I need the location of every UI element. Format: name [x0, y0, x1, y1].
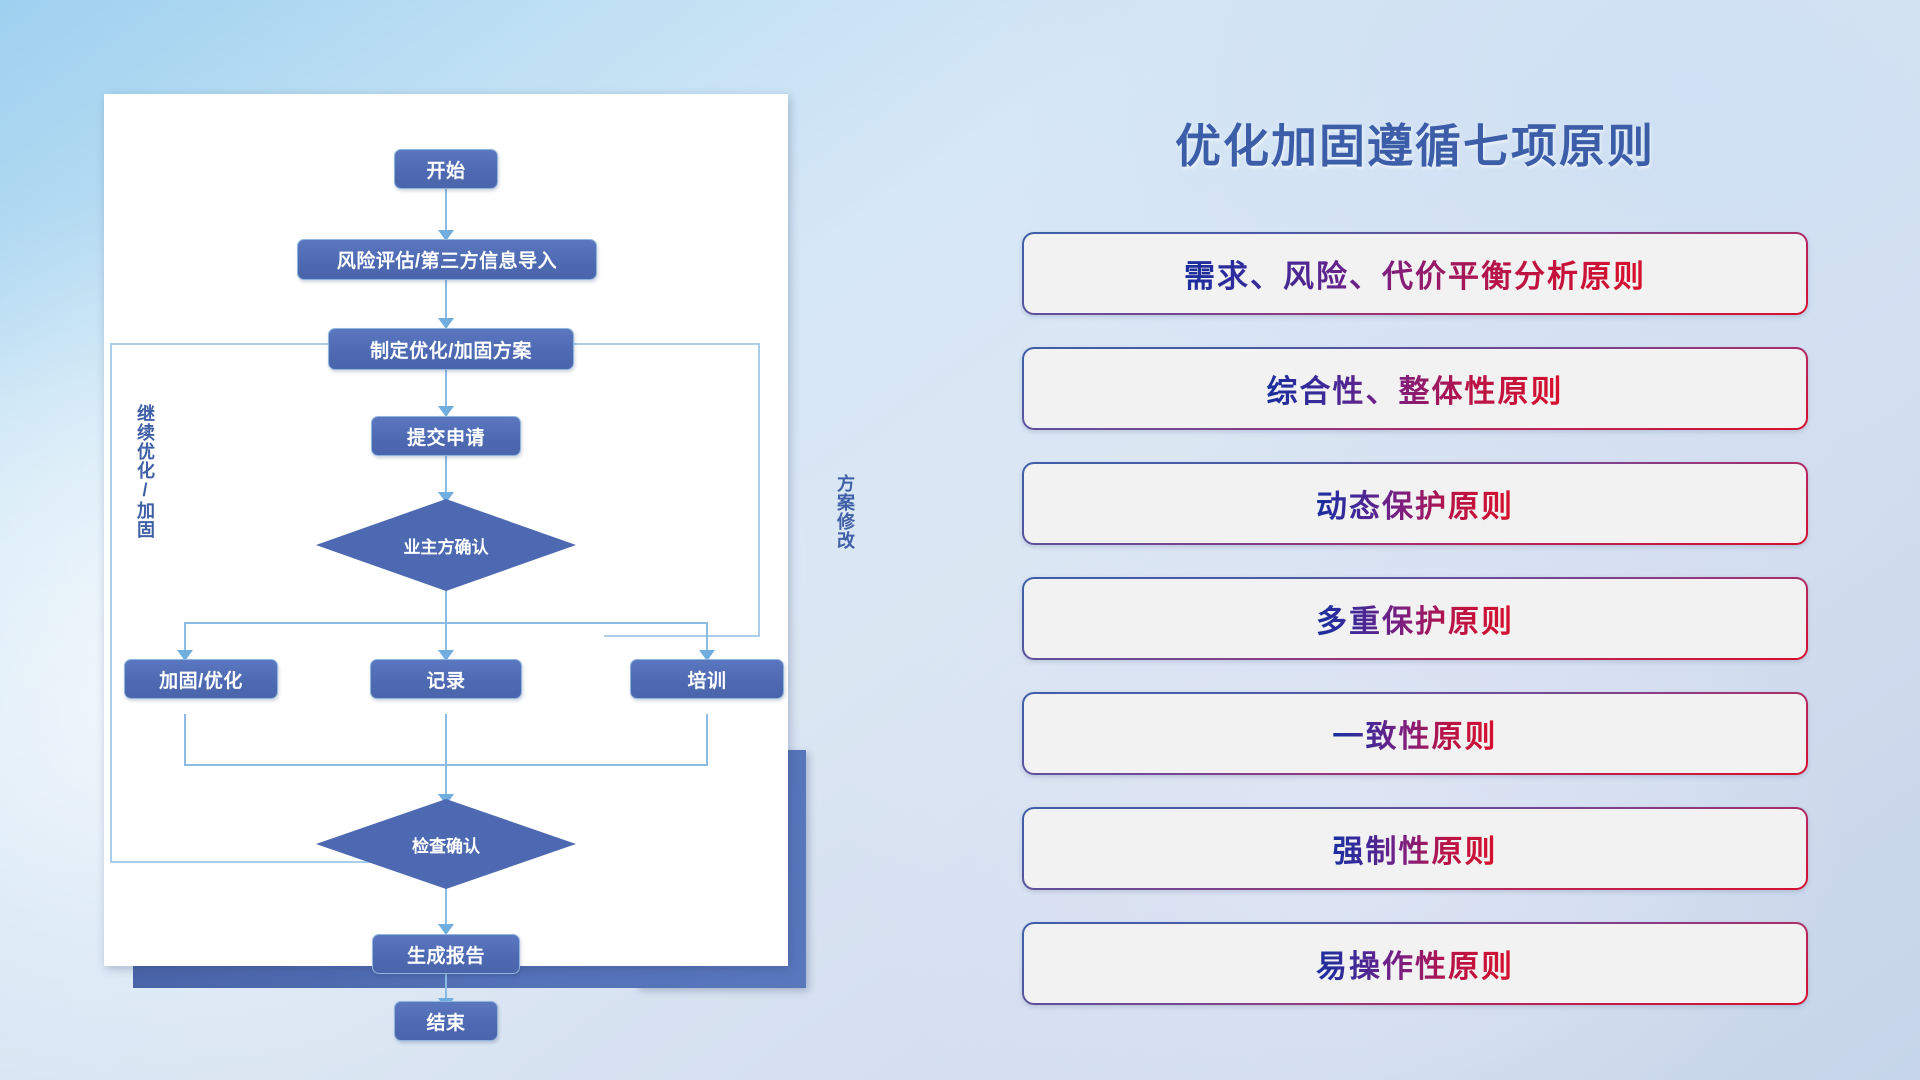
loop-frame-right-bottom [604, 635, 760, 637]
flowchart-card: 继续优化/加固 方案修改 [104, 94, 788, 966]
principle-label-1: 需求、风险、代价平衡分析原则 [1184, 251, 1646, 296]
loop-frame-right-vertical [758, 343, 760, 636]
principle-card-4-inner: 多重保护原则 [1024, 579, 1806, 658]
principle-card-6-inner: 强制性原则 [1024, 809, 1806, 888]
flow-decision-inspection-confirm[interactable]: 检查确认 [316, 799, 576, 889]
loop-frame-left-vertical [110, 343, 112, 863]
slide-root: 继续优化/加固 方案修改 [0, 0, 1920, 1080]
flow-node-generate-report[interactable]: 生成报告 [372, 934, 520, 974]
principle-card-1[interactable]: 需求、风险、代价平衡分析原则 [1022, 232, 1808, 315]
flow-node-training[interactable]: 培训 [630, 659, 784, 699]
flow-node-reinforce-optimize[interactable]: 加固/优化 [124, 659, 278, 699]
principle-label-2: 综合性、整体性原则 [1267, 366, 1564, 411]
principle-label-7: 易操作性原则 [1316, 941, 1514, 986]
edge-label-plan-revision: 方案修改 [836, 474, 854, 550]
flow-node-start[interactable]: 开始 [394, 149, 498, 189]
connector-merge-mid [445, 714, 447, 766]
principle-card-2[interactable]: 综合性、整体性原则 [1022, 347, 1808, 430]
principle-label-3: 动态保护原则 [1316, 481, 1514, 526]
panel-title: 优化加固遵循七项原则 [1020, 110, 1810, 176]
flow-node-plan[interactable]: 制定优化/加固方案 [328, 328, 574, 370]
flowchart-canvas: 继续优化/加固 方案修改 [104, 94, 788, 966]
principle-card-7[interactable]: 易操作性原则 [1022, 922, 1808, 1005]
connector-merge-to-check [445, 764, 447, 798]
principle-card-4[interactable]: 多重保护原则 [1022, 577, 1808, 660]
principle-label-5: 一致性原则 [1333, 711, 1498, 756]
flow-node-end[interactable]: 结束 [394, 1001, 498, 1041]
flow-node-submit-application[interactable]: 提交申请 [371, 416, 521, 456]
principle-card-2-inner: 综合性、整体性原则 [1024, 349, 1806, 428]
connector-start-to-risk [445, 184, 447, 234]
connector-plan-to-submit [445, 366, 447, 410]
flow-node-record[interactable]: 记录 [370, 659, 522, 699]
edge-label-continue-optimize: 继续优化/加固 [136, 404, 154, 539]
connector-owner-to-branch [445, 586, 447, 622]
connector-check-to-report [445, 886, 447, 928]
flow-decision-owner-confirm[interactable]: 业主方确认 [316, 499, 576, 591]
principle-card-3-inner: 动态保护原则 [1024, 464, 1806, 543]
connector-submit-to-owner [445, 454, 447, 496]
flow-node-risk-assessment[interactable]: 风险评估/第三方信息导入 [297, 239, 597, 280]
connector-merge-right [706, 714, 708, 766]
connector-risk-to-plan [445, 275, 447, 322]
principle-label-4: 多重保护原则 [1316, 596, 1514, 641]
principle-card-5-inner: 一致性原则 [1024, 694, 1806, 773]
principles-list: 需求、风险、代价平衡分析原则 综合性、整体性原则 动态保护原则 多重保护原则 一… [1022, 232, 1808, 1037]
principle-card-7-inner: 易操作性原则 [1024, 924, 1806, 1003]
principle-card-1-inner: 需求、风险、代价平衡分析原则 [1024, 234, 1806, 313]
connector-merge-left [184, 714, 186, 766]
principle-card-6[interactable]: 强制性原则 [1022, 807, 1808, 890]
principle-card-3[interactable]: 动态保护原则 [1022, 462, 1808, 545]
principle-label-6: 强制性原则 [1333, 826, 1498, 871]
principle-card-5[interactable]: 一致性原则 [1022, 692, 1808, 775]
